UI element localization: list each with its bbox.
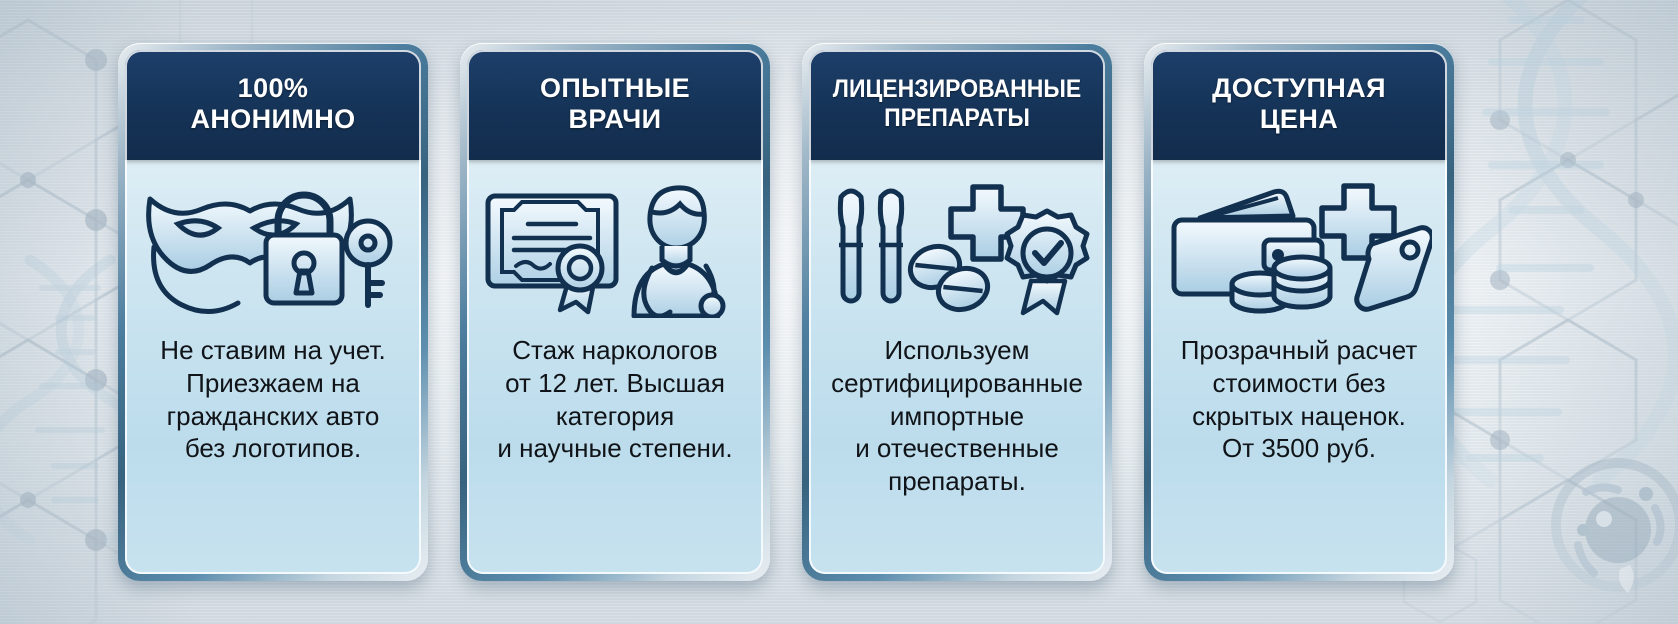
banknotes-icon xyxy=(1200,191,1293,218)
feature-card-doctors[interactable]: ОПЫТНЫЕ ВРАЧИ xyxy=(460,43,770,581)
card-title: ЛИЦЕНЗИРОВАННЫЕ ПРЕПАРАТЫ xyxy=(833,75,1081,133)
card-icon-group-anonymity xyxy=(125,160,421,328)
feature-cards-row: 100% АНОНИМНО xyxy=(0,0,1678,624)
card-header-medications: ЛИЦЕНЗИРОВАННЫЕ ПРЕПАРАТЫ xyxy=(809,50,1105,160)
feature-card-medications[interactable]: ЛИЦЕНЗИРОВАННЫЕ ПРЕПАРАТЫ xyxy=(802,43,1112,581)
card-header-price: ДОСТУПНАЯ ЦЕНА xyxy=(1151,50,1447,160)
ampoule-icon xyxy=(839,191,863,301)
card-title: ОПЫТНЫЕ ВРАЧИ xyxy=(540,73,690,136)
card-title: ДОСТУПНАЯ ЦЕНА xyxy=(1212,73,1386,136)
card-header-doctors: ОПЫТНЫЕ ВРАЧИ xyxy=(467,50,763,160)
card-icon-group-doctors xyxy=(467,160,763,328)
card-title: 100% АНОНИМНО xyxy=(190,73,355,136)
stethoscope-chestpiece xyxy=(701,295,723,317)
card-description: Прозрачный расчет стоимости без скрытых … xyxy=(1181,334,1418,465)
key-icon xyxy=(346,221,390,305)
card-description: Стаж наркологов от 12 лет. Высшая катего… xyxy=(497,334,732,465)
check-badge-icon xyxy=(1007,211,1087,313)
feature-card-anonymity[interactable]: 100% АНОНИМНО xyxy=(118,43,428,581)
card-description: Не ставим на учет. Приезжаем на гражданс… xyxy=(160,334,385,465)
card-body-price: Прозрачный расчет стоимости без скрытых … xyxy=(1151,328,1447,574)
ampoule-icon xyxy=(879,191,903,301)
card-description: Используем сертифицированные импортные и… xyxy=(831,334,1083,498)
card-body-anonymity: Не ставим на учет. Приезжаем на гражданс… xyxy=(125,328,421,574)
card-body-medications: Используем сертифицированные импортные и… xyxy=(809,328,1105,574)
seal-ribbon-icon xyxy=(558,246,602,312)
card-body-doctors: Стаж наркологов от 12 лет. Высшая катего… xyxy=(467,328,763,574)
doctor-icon xyxy=(634,188,723,317)
card-icon-group-medications xyxy=(809,160,1105,328)
feature-card-price[interactable]: ДОСТУПНАЯ ЦЕНА xyxy=(1144,43,1454,581)
card-icon-group-price xyxy=(1151,160,1447,328)
card-header-anonymity: 100% АНОНИМНО xyxy=(125,50,421,160)
